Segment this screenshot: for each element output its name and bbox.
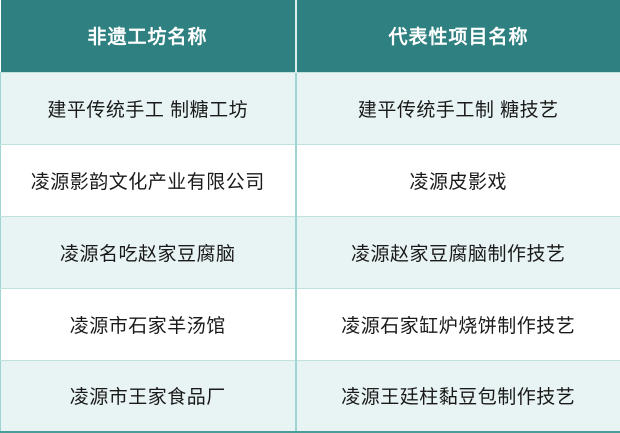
cell-workshop-name: 凌源市石家羊汤馆 [1, 288, 296, 360]
table-row: 建平传统手工 制糖工坊 建平传统手工制 糖技艺 [1, 72, 620, 144]
column-header-workshop-name: 非遗工坊名称 [1, 0, 296, 72]
table-row: 凌源影韵文化产业有限公司 凌源皮影戏 [1, 144, 620, 216]
table-header-row: 非遗工坊名称 代表性项目名称 [1, 0, 620, 72]
table-row: 凌源名吃赵家豆腐脑 凌源赵家豆腐脑制作技艺 [1, 216, 620, 288]
cell-project-name: 凌源皮影戏 [296, 144, 620, 216]
cell-workshop-name: 凌源影韵文化产业有限公司 [1, 144, 296, 216]
cell-project-name: 凌源王廷柱黏豆包制作技艺 [296, 360, 620, 432]
cell-project-name: 凌源赵家豆腐脑制作技艺 [296, 216, 620, 288]
table-container: 非遗工坊名称 代表性项目名称 建平传统手工 制糖工坊 建平传统手工制 糖技艺 凌… [0, 0, 620, 433]
cell-project-name: 建平传统手工制 糖技艺 [296, 72, 620, 144]
column-header-project-name: 代表性项目名称 [296, 0, 620, 72]
cell-workshop-name: 建平传统手工 制糖工坊 [1, 72, 296, 144]
table-header: 非遗工坊名称 代表性项目名称 [1, 0, 620, 72]
table-row: 凌源市王家食品厂 凌源王廷柱黏豆包制作技艺 [1, 360, 620, 432]
cell-project-name: 凌源石家缸炉烧饼制作技艺 [296, 288, 620, 360]
cell-workshop-name: 凌源名吃赵家豆腐脑 [1, 216, 296, 288]
intangible-heritage-workshop-table: 非遗工坊名称 代表性项目名称 建平传统手工 制糖工坊 建平传统手工制 糖技艺 凌… [0, 0, 620, 433]
table-row: 凌源市石家羊汤馆 凌源石家缸炉烧饼制作技艺 [1, 288, 620, 360]
cell-workshop-name: 凌源市王家食品厂 [1, 360, 296, 432]
table-body: 建平传统手工 制糖工坊 建平传统手工制 糖技艺 凌源影韵文化产业有限公司 凌源皮… [1, 72, 620, 432]
